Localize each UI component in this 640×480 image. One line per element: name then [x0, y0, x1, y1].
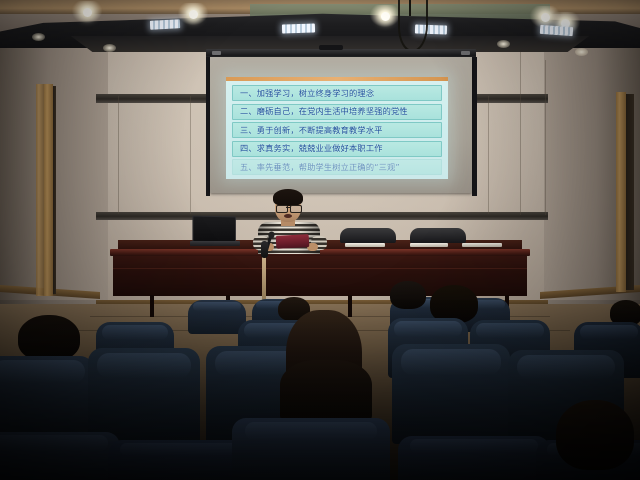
wall-trim-band-lower — [96, 212, 548, 220]
audience-seat[interactable] — [392, 344, 510, 444]
wall-panel-seam — [520, 50, 521, 215]
audience-head — [390, 281, 426, 309]
wall-panel-seam — [545, 60, 546, 215]
audience-seat[interactable] — [232, 418, 390, 480]
spot-light-icon — [178, 3, 208, 25]
slide-line-1: 一、加强学习，树立终身学习的理念 — [232, 85, 442, 101]
ceiling-panel-light-icon — [150, 19, 180, 30]
name-card — [462, 243, 502, 247]
door-frame-left[interactable] — [44, 84, 53, 296]
laptop-base[interactable] — [190, 241, 240, 246]
lecture-hall-photo: 一、加强学习，树立终身学习的理念 二、磨砺自己，在党内生活中培养坚强的党性 三、… — [0, 0, 640, 480]
slide-line-4: 四、求真务实，兢兢业业做好本职工作 — [232, 141, 442, 157]
door-frame-right[interactable] — [616, 92, 626, 292]
speaker-hair — [273, 189, 303, 206]
audience-seat[interactable] — [188, 300, 246, 334]
projected-slide: 一、加强学习，树立终身学习的理念 二、磨砺自己，在党内生活中培养坚强的党性 三、… — [226, 77, 448, 179]
audience-shoulders-foreground — [280, 360, 372, 422]
slide-line-3: 三、勇于创新，不断提高教育教学水平 — [232, 122, 442, 138]
wall-panel-seam — [190, 96, 191, 214]
wall-panel-seam — [118, 96, 119, 214]
audience-seat[interactable] — [88, 348, 200, 444]
slide-top-band — [226, 77, 448, 81]
slide-line-5: 五、率先垂范，帮助学生树立正确的“三观” — [232, 159, 442, 175]
hanging-cable-lead — [409, 0, 411, 16]
door-jamb-left — [36, 84, 44, 296]
audience-seat[interactable] — [398, 436, 550, 480]
desk-top — [110, 249, 530, 256]
downlight-icon — [497, 40, 510, 48]
eyeglasses-icon — [290, 205, 302, 213]
microphone-stand — [262, 255, 266, 305]
audience-head — [18, 315, 80, 361]
red-document — [276, 234, 310, 249]
name-card — [410, 243, 448, 247]
downlight-icon — [575, 48, 588, 56]
empty-chair[interactable] — [340, 228, 396, 243]
downlight-icon — [103, 44, 116, 52]
eyeglasses-bridge — [286, 207, 290, 208]
downlight-icon — [32, 33, 45, 41]
name-card — [345, 243, 385, 247]
audience-seat[interactable] — [0, 356, 94, 442]
desk-leg — [150, 295, 154, 317]
audience-head — [556, 400, 634, 470]
slide-line-2: 二、磨砺自己，在党内生活中培养坚强的党性 — [232, 104, 442, 120]
audience-seat[interactable] — [0, 432, 120, 480]
ceiling-panel-light-icon — [282, 23, 315, 33]
desk-leg — [348, 295, 352, 317]
empty-chair[interactable] — [410, 228, 466, 243]
wall-panel-seam — [488, 96, 489, 214]
speaker-mouth — [284, 214, 292, 218]
spot-light-icon — [370, 5, 400, 27]
door-right[interactable] — [626, 94, 634, 290]
door-left[interactable] — [53, 86, 56, 294]
spot-light-icon — [72, 1, 102, 23]
screen-edge-right — [472, 57, 477, 196]
